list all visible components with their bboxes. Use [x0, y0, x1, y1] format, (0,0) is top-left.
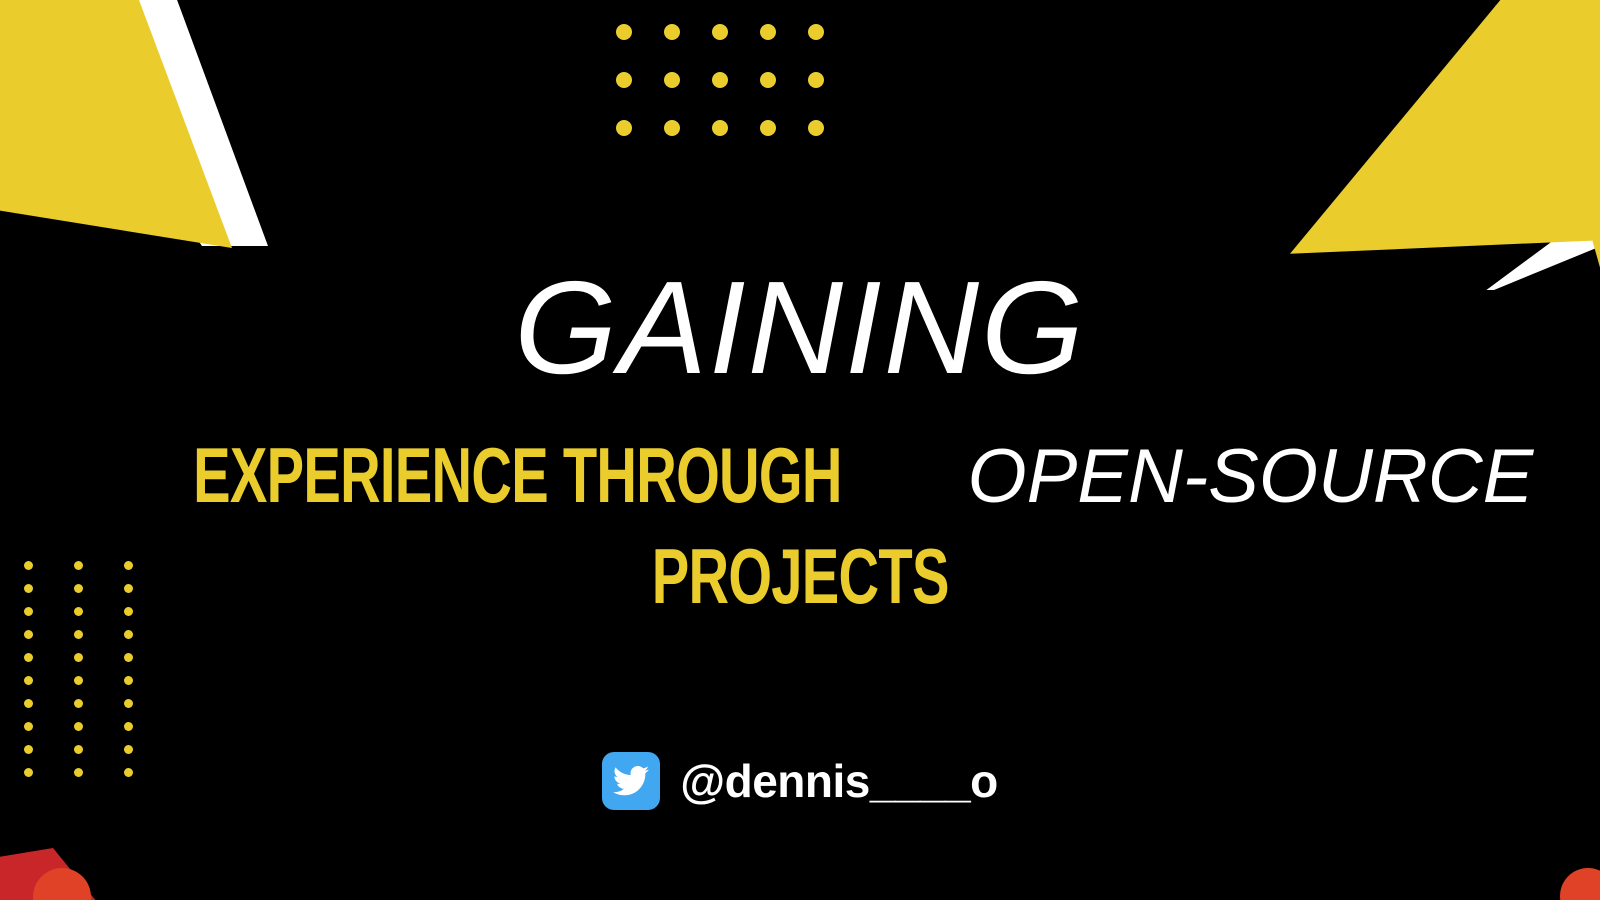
twitter-handle-text[interactable]: @dennis____o	[680, 754, 998, 808]
dot	[74, 722, 83, 731]
top-right-yellow-wedge-shape	[1290, 0, 1600, 300]
dot	[24, 630, 33, 639]
dot	[24, 676, 33, 685]
dot	[616, 24, 632, 40]
dot	[712, 120, 728, 136]
dot	[808, 72, 824, 88]
title-line-gaining: GAINING	[0, 262, 1600, 394]
dot	[124, 676, 133, 685]
dot	[24, 722, 33, 731]
dot	[760, 120, 776, 136]
dot	[712, 72, 728, 88]
dot	[664, 72, 680, 88]
top-left-yellow-wedge-shape	[0, 0, 260, 260]
dot	[24, 653, 33, 662]
dot	[74, 630, 83, 639]
dot	[124, 630, 133, 639]
twitter-handle-row[interactable]: @dennis____o	[0, 752, 1600, 810]
dot	[616, 120, 632, 136]
title-projects: PROJECTS	[652, 537, 949, 615]
bottom-left-orange-circle-shape	[33, 868, 91, 900]
dot	[712, 24, 728, 40]
dot	[124, 722, 133, 731]
top-dot-grid	[616, 24, 824, 136]
bottom-left-red-wedge-shape	[0, 848, 110, 900]
dot	[808, 120, 824, 136]
title-line-projects-wrap: PROJECTS	[0, 537, 1600, 615]
dot	[664, 120, 680, 136]
dot	[760, 72, 776, 88]
twitter-bird-icon[interactable]	[602, 752, 660, 810]
top-left-white-sliver-shape	[0, 0, 280, 270]
dot	[124, 653, 133, 662]
title-experience-through: EXPERIENCE THROUGH	[193, 436, 842, 514]
dot	[664, 24, 680, 40]
dot	[24, 699, 33, 708]
bottom-right-orange-circle-shape	[1560, 868, 1600, 900]
title-line-subtitle: EXPERIENCE THROUGHOPEN-SOURCE	[0, 436, 1600, 515]
dot	[74, 699, 83, 708]
dot	[616, 72, 632, 88]
dot	[760, 24, 776, 40]
title-open-source: OPEN-SOURCE	[967, 439, 1533, 515]
dot	[808, 24, 824, 40]
dot	[74, 653, 83, 662]
dot	[124, 699, 133, 708]
presentation-slide: GAINING EXPERIENCE THROUGHOPEN-SOURCE PR…	[0, 0, 1600, 900]
dot	[74, 676, 83, 685]
slide-title-block: GAINING EXPERIENCE THROUGHOPEN-SOURCE PR…	[0, 262, 1600, 615]
